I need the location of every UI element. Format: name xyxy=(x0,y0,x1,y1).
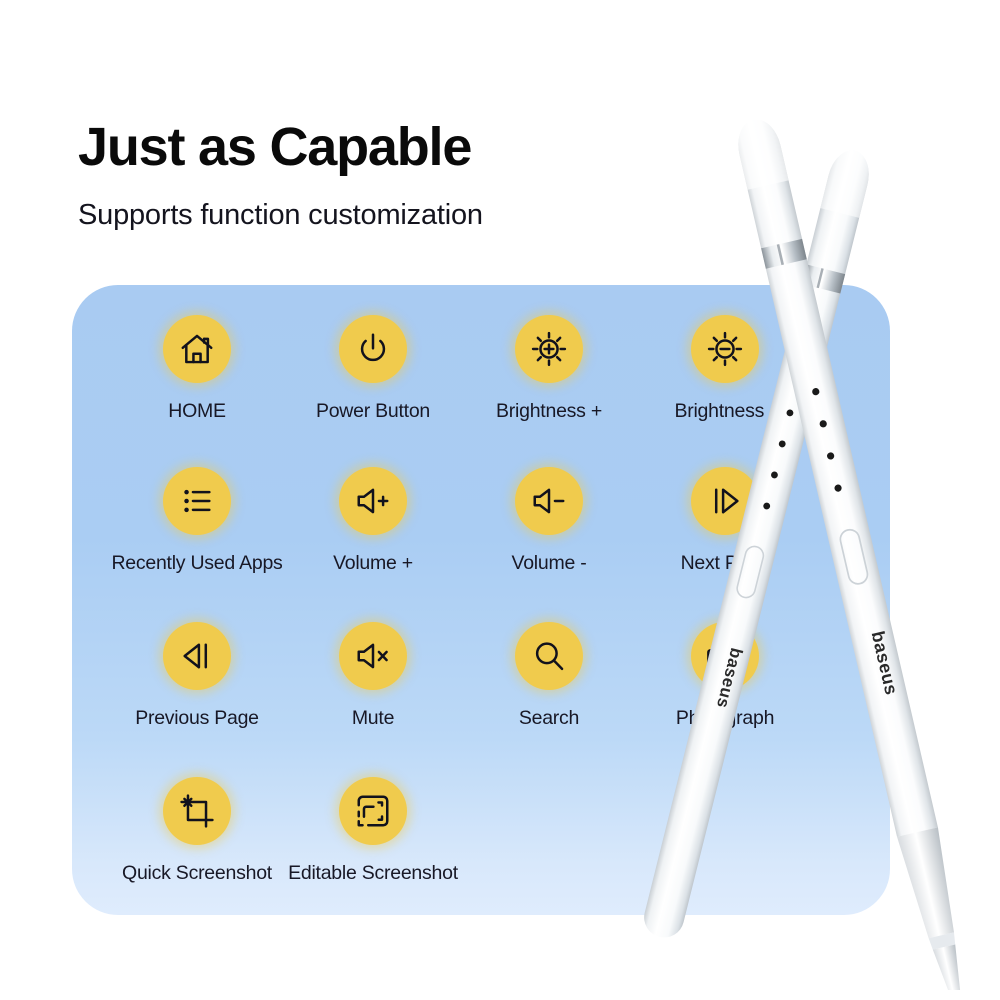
power-icon xyxy=(339,315,407,383)
function-label: Quick Screenshot xyxy=(122,862,272,885)
function-item-editable-screenshot[interactable]: Editable Screenshot xyxy=(285,777,461,932)
function-label: Recently Used Apps xyxy=(111,552,282,575)
function-item-power-button[interactable]: Power Button xyxy=(285,315,461,470)
function-label: HOME xyxy=(168,400,226,423)
function-item-home[interactable]: HOME xyxy=(109,315,285,470)
function-icon-grid: HOME Power Button xyxy=(72,285,890,915)
function-item-brightness-down[interactable]: Brightness - xyxy=(637,315,813,470)
function-label: Search xyxy=(519,707,579,730)
brightness-up-icon xyxy=(515,315,583,383)
function-item-brightness-up[interactable]: Brightness + xyxy=(461,315,637,470)
function-item-quick-screenshot[interactable]: Quick Screenshot xyxy=(109,777,285,932)
function-item-mute[interactable]: Mute xyxy=(285,622,461,777)
page-title: Just as Capable xyxy=(78,118,698,177)
function-item-volume-down[interactable]: Volume - xyxy=(461,467,637,622)
previous-page-icon xyxy=(163,622,231,690)
page-subtitle: Supports function customization xyxy=(78,199,698,232)
function-item-previous-page[interactable]: Previous Page xyxy=(109,622,285,777)
function-item-search[interactable]: Search xyxy=(461,622,637,777)
function-label: Editable Screenshot xyxy=(288,862,458,885)
function-item-volume-up[interactable]: Volume + xyxy=(285,467,461,622)
crop-icon xyxy=(163,777,231,845)
function-item-recently-used-apps[interactable]: Recently Used Apps xyxy=(109,467,285,622)
function-label: Photograph xyxy=(676,707,774,730)
icon-row-3: Previous Page Mute Search xyxy=(72,622,890,777)
frame-corners-icon xyxy=(339,777,407,845)
volume-up-icon xyxy=(339,467,407,535)
home-icon xyxy=(163,315,231,383)
icon-row-4: Quick Screenshot Editable Screenshot xyxy=(72,777,890,932)
function-label: Power Button xyxy=(316,400,430,423)
function-label: Volume - xyxy=(512,552,587,575)
function-label: Brightness - xyxy=(674,400,775,423)
function-label: Volume + xyxy=(333,552,413,575)
function-label: Previous Page xyxy=(135,707,259,730)
function-label: Brightness + xyxy=(496,400,602,423)
icon-row-1: HOME Power Button xyxy=(72,315,890,470)
list-icon xyxy=(163,467,231,535)
next-page-icon xyxy=(691,467,759,535)
function-label: Mute xyxy=(352,707,394,730)
icon-row-2: Recently Used Apps Volume + Volume - xyxy=(72,467,890,622)
search-icon xyxy=(515,622,583,690)
volume-down-icon xyxy=(515,467,583,535)
function-item-photograph[interactable]: Photograph xyxy=(637,622,813,777)
mute-icon xyxy=(339,622,407,690)
camera-icon xyxy=(691,622,759,690)
function-label: Next Page xyxy=(681,552,770,575)
heading-block: Just as Capable Supports function custom… xyxy=(78,118,698,232)
brightness-down-icon xyxy=(691,315,759,383)
function-item-next-page[interactable]: Next Page xyxy=(637,467,813,622)
